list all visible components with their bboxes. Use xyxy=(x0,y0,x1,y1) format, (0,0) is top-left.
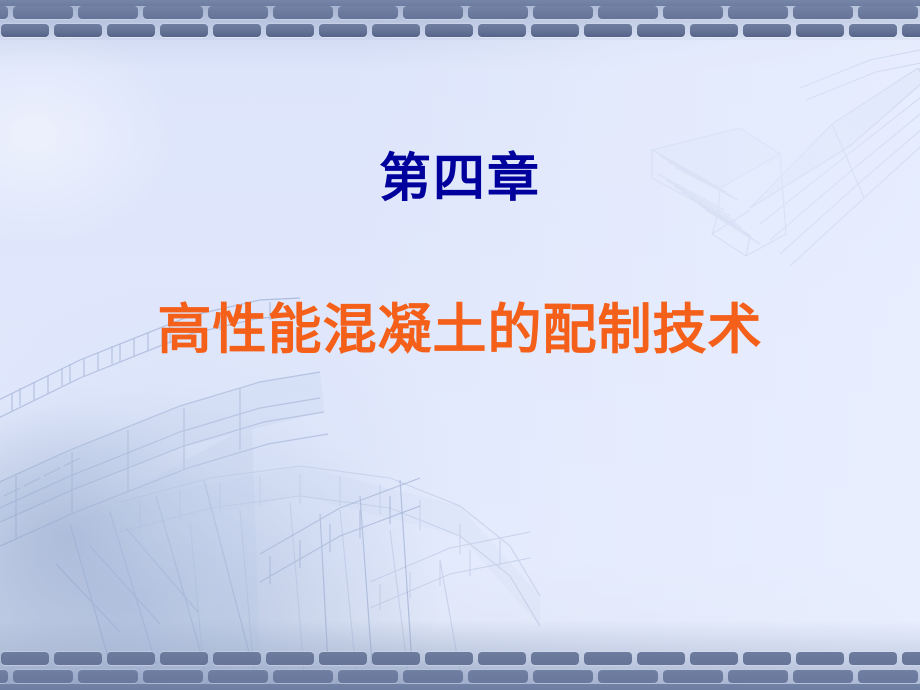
brick xyxy=(531,652,579,665)
brick xyxy=(403,670,463,683)
brick xyxy=(849,652,897,665)
brick xyxy=(793,670,853,683)
brick xyxy=(319,24,367,37)
brick xyxy=(78,670,138,683)
brick xyxy=(584,24,632,37)
brick xyxy=(468,670,528,683)
brick xyxy=(793,6,853,19)
brick xyxy=(637,24,685,37)
brick xyxy=(143,6,203,19)
brick-row-upper xyxy=(0,652,920,665)
brick xyxy=(584,652,632,665)
brick xyxy=(637,652,685,665)
brick xyxy=(266,652,314,665)
brick xyxy=(796,652,844,665)
brick xyxy=(208,670,268,683)
brick xyxy=(533,6,593,19)
brick-row-upper xyxy=(0,6,920,19)
brick xyxy=(107,24,155,37)
brick xyxy=(13,6,73,19)
border-cap-top xyxy=(0,0,920,6)
brick xyxy=(1,24,49,37)
page-title: 第四章 xyxy=(0,152,920,207)
subtitle-block: 高性能混凝土的配制技术 xyxy=(0,300,920,359)
brick-border-top xyxy=(0,0,920,40)
brick xyxy=(796,24,844,37)
brick xyxy=(319,652,367,665)
page-subtitle: 高性能混凝土的配制技术 xyxy=(0,300,920,359)
brick xyxy=(858,670,918,683)
presentation-slide: 第四章 高性能混凝土的配制技术 xyxy=(0,0,920,690)
title-block: 第四章 xyxy=(0,152,920,207)
brick xyxy=(598,670,658,683)
brick xyxy=(728,670,788,683)
brick xyxy=(531,24,579,37)
border-cap-bottom xyxy=(0,684,920,690)
brick xyxy=(728,6,788,19)
brick xyxy=(160,652,208,665)
brick xyxy=(425,24,473,37)
brick xyxy=(372,24,420,37)
brick xyxy=(663,6,723,19)
brick xyxy=(208,6,268,19)
brick xyxy=(478,652,526,665)
brick xyxy=(78,6,138,19)
brick xyxy=(690,24,738,37)
brick xyxy=(425,652,473,665)
brick xyxy=(143,670,203,683)
brick-border-bottom xyxy=(0,648,920,690)
brick xyxy=(468,6,528,19)
brick xyxy=(690,652,738,665)
brick xyxy=(273,670,333,683)
brick xyxy=(1,652,49,665)
brick xyxy=(54,652,102,665)
brick xyxy=(372,652,420,665)
brick xyxy=(858,6,918,19)
brick xyxy=(338,670,398,683)
brick xyxy=(849,24,897,37)
brick-row-lower xyxy=(0,24,920,37)
brick xyxy=(743,652,791,665)
brick xyxy=(273,6,333,19)
brick xyxy=(0,670,8,683)
brick xyxy=(598,6,658,19)
brick xyxy=(663,670,723,683)
brick xyxy=(533,670,593,683)
brick xyxy=(266,24,314,37)
brick xyxy=(403,6,463,19)
brick xyxy=(54,24,102,37)
brick xyxy=(160,24,208,37)
brick xyxy=(107,652,155,665)
brick xyxy=(902,652,920,665)
brick xyxy=(213,24,261,37)
brick xyxy=(13,670,73,683)
brick xyxy=(338,6,398,19)
brick xyxy=(902,24,920,37)
brick xyxy=(478,24,526,37)
brick-row-lower xyxy=(0,670,920,683)
brick xyxy=(0,6,8,19)
brick xyxy=(213,652,261,665)
brick xyxy=(743,24,791,37)
